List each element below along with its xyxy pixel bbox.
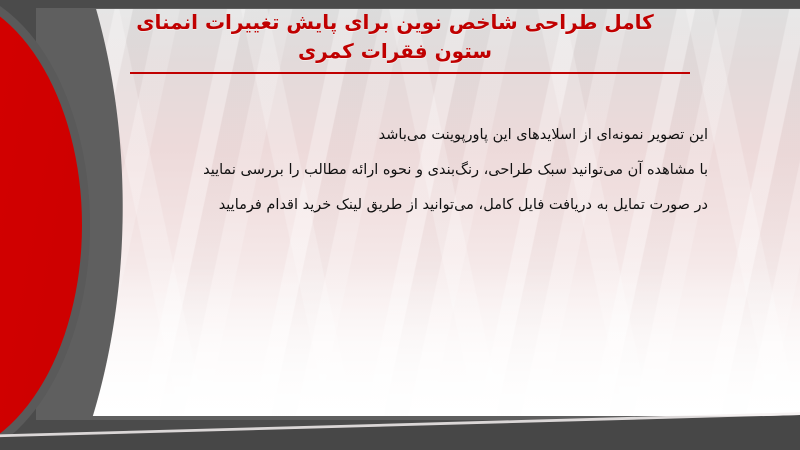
slide-body-text: این تصویر نمونه‌ای از اسلایدهای این پاور… [88,118,708,223]
slide-content: کامل طراحی شاخص نوین برای پایش تغییرات ا… [0,0,800,450]
body-paragraph-1: این تصویر نمونه‌ای از اسلایدهای این پاور… [88,118,708,153]
body-paragraph-3: در صورت تمایل به دریافت فایل کامل، می‌تو… [88,188,708,223]
presentation-slide: کامل طراحی شاخص نوین برای پایش تغییرات ا… [0,0,800,450]
slide-title: کامل طراحی شاخص نوین برای پایش تغییرات ا… [100,8,690,66]
title-divider-rule [130,72,690,74]
slide-title-line-2: ستون فقرات کمری [100,37,690,66]
slide-title-line-1: کامل طراحی شاخص نوین برای پایش تغییرات ا… [100,8,690,37]
body-paragraph-2: با مشاهده آن می‌توانید سبک طراحی، رنگ‌بن… [88,153,708,188]
